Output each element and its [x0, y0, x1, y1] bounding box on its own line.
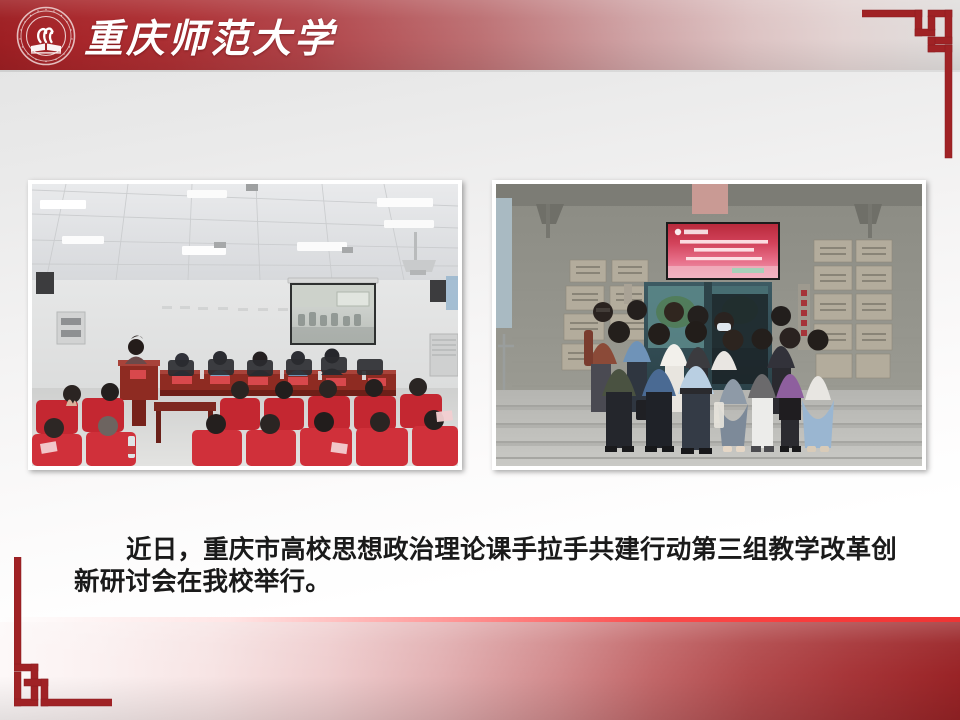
conference-room-photo-image — [32, 184, 458, 466]
chinese-corner-ornament-bottom-left — [14, 557, 112, 709]
body-paragraph: 近日，重庆市高校思想政治理论课手拉手共建行动第三组教学改革创新研讨会在我校举行。 — [74, 534, 902, 598]
footer-band-sheen — [0, 622, 960, 720]
page-title: 重庆师范大学 — [84, 9, 336, 63]
group-photo — [492, 180, 926, 470]
chinese-corner-ornament-top-right — [862, 8, 960, 160]
group-photo-image — [496, 184, 922, 466]
conference-room-photo — [28, 180, 462, 470]
header-underline — [0, 70, 960, 72]
university-seal-logo — [16, 6, 76, 66]
slide-root: 重庆师范大学 — [0, 0, 960, 720]
